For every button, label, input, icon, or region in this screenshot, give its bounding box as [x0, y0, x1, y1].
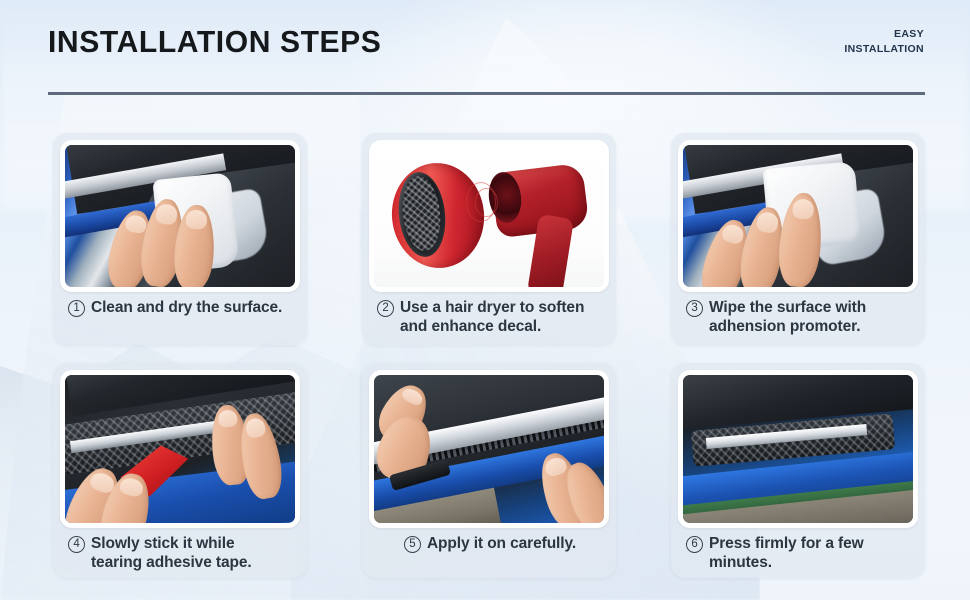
- step-card-4[interactable]: 4 Slowly stick it while tearing adhesive…: [53, 363, 307, 578]
- step-caption-text-3: Wipe the surface with adhension promoter…: [709, 299, 866, 337]
- step-card-3[interactable]: 3 Wipe the surface with adhension promot…: [671, 133, 925, 345]
- step-caption-3: 3 Wipe the surface with adhension promot…: [678, 292, 918, 345]
- header-tagline-line2: INSTALLATION: [734, 42, 924, 57]
- step-number-3: 3: [686, 300, 703, 317]
- step-caption-2: 2 Use a hair dryer to soften and enhance…: [369, 292, 609, 345]
- step-caption-line-2-2: and enhance decal.: [400, 318, 541, 335]
- step-number-1: 1: [68, 300, 85, 317]
- step-photo-frame-1: [60, 140, 300, 292]
- step-caption-6: 6 Press firmly for a few minutes.: [678, 528, 918, 578]
- step-card-5[interactable]: 5 Apply it on carefully.: [362, 363, 616, 578]
- step-photo-2: [374, 145, 604, 287]
- step-photo-frame-3: [678, 140, 918, 292]
- step-caption-line-4-2: tearing adhesive tape.: [91, 554, 252, 571]
- step-photo-frame-2: [369, 140, 609, 292]
- step-caption-4: 4 Slowly stick it while tearing adhesive…: [60, 528, 300, 578]
- step-photo-frame-5: [369, 370, 609, 528]
- step-caption-text-6: Press firmly for a few minutes.: [709, 535, 864, 573]
- step-caption-text-4: Slowly stick it while tearing adhesive t…: [91, 535, 252, 573]
- page-title: INSTALLATION STEPS: [48, 24, 381, 60]
- step-caption-text-5: Apply it on carefully.: [427, 535, 576, 554]
- step-card-2[interactable]: 2 Use a hair dryer to soften and enhance…: [362, 133, 616, 345]
- step-number-6: 6: [686, 536, 703, 553]
- step-caption-line-6-1: Press firmly for a few: [709, 535, 864, 552]
- step-caption-5: 5 Apply it on carefully.: [369, 528, 609, 578]
- page-header: INSTALLATION STEPS EASY INSTALLATION: [0, 0, 970, 110]
- step-caption-text-1: Clean and dry the surface.: [91, 299, 282, 318]
- step-number-4: 4: [68, 536, 85, 553]
- step-caption-line-6-2: minutes.: [709, 554, 772, 571]
- step-caption-text-2: Use a hair dryer to soften and enhance d…: [400, 299, 584, 337]
- step-number-2: 2: [377, 300, 394, 317]
- step-photo-frame-6: [678, 370, 918, 528]
- step-card-1[interactable]: 1 Clean and dry the surface.: [53, 133, 307, 345]
- steps-grid: 1 Clean and dry the surface.: [53, 133, 925, 578]
- header-divider: [48, 92, 925, 95]
- step-photo-frame-4: [60, 370, 300, 528]
- header-tagline-line1: EASY: [734, 27, 924, 42]
- step-caption-line-4-1: Slowly stick it while: [91, 535, 234, 552]
- installation-steps-page: INSTALLATION STEPS EASY INSTALLATION: [0, 0, 970, 600]
- step-caption-1: 1 Clean and dry the surface.: [60, 292, 300, 345]
- step-photo-4: [65, 375, 295, 523]
- step-caption-line-3-1: Wipe the surface with: [709, 299, 866, 316]
- step-photo-5: [374, 375, 604, 523]
- step-number-5: 5: [404, 536, 421, 553]
- step-card-6[interactable]: 6 Press firmly for a few minutes.: [671, 363, 925, 578]
- step-caption-line-2-1: Use a hair dryer to soften: [400, 299, 584, 316]
- step-photo-3: [683, 145, 913, 287]
- header-tagline: EASY INSTALLATION: [734, 27, 924, 57]
- step-photo-1: [65, 145, 295, 287]
- step-caption-line-3-2: adhension promoter.: [709, 318, 860, 335]
- step-photo-6: [683, 375, 913, 523]
